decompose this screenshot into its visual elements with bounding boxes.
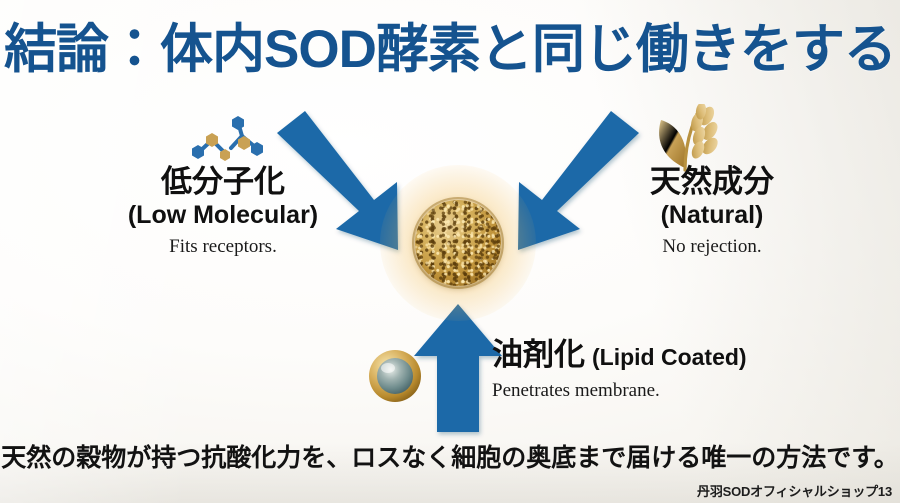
slide-canvas: 結論：体内SOD酵素と同じ働きをする — [0, 0, 900, 503]
arrow-up-icon — [414, 304, 502, 432]
feature-lipid-coated: 油剤化 (Lipid Coated) Penetrates membrane. — [492, 338, 812, 403]
feature-natural-en: (Natural) — [604, 200, 820, 230]
feature-low-molecular: 低分子化 (Low Molecular) Fits receptors. — [108, 165, 338, 259]
page-title: 結論：体内SOD酵素と同じ働きをする — [0, 22, 900, 78]
feature-natural: 天然成分 (Natural) No rejection. — [604, 165, 820, 259]
granule-sphere — [406, 191, 510, 295]
feature-lipid-coated-en: (Lipid Coated) — [592, 344, 747, 372]
feature-low-molecular-jp: 低分子化 — [108, 165, 338, 200]
footer-credit: 丹羽SODオフィシャルショップ13 — [697, 481, 892, 500]
feature-lipid-coated-jp: 油剤化 — [492, 338, 585, 373]
feature-natural-note: No rejection. — [604, 235, 820, 260]
summary-caption: 天然の穀物が持つ抗酸化力を、ロスなく細胞の奥底まで届ける唯一の方法です。 — [0, 438, 900, 474]
granule-ball — [415, 200, 501, 286]
feature-lipid-coated-note: Penetrates membrane. — [492, 379, 812, 404]
feature-natural-jp: 天然成分 — [604, 165, 820, 200]
feature-low-molecular-note: Fits receptors. — [108, 235, 338, 260]
feature-low-molecular-en: (Low Molecular) — [108, 200, 338, 230]
lipid-droplet-icon — [367, 348, 423, 404]
